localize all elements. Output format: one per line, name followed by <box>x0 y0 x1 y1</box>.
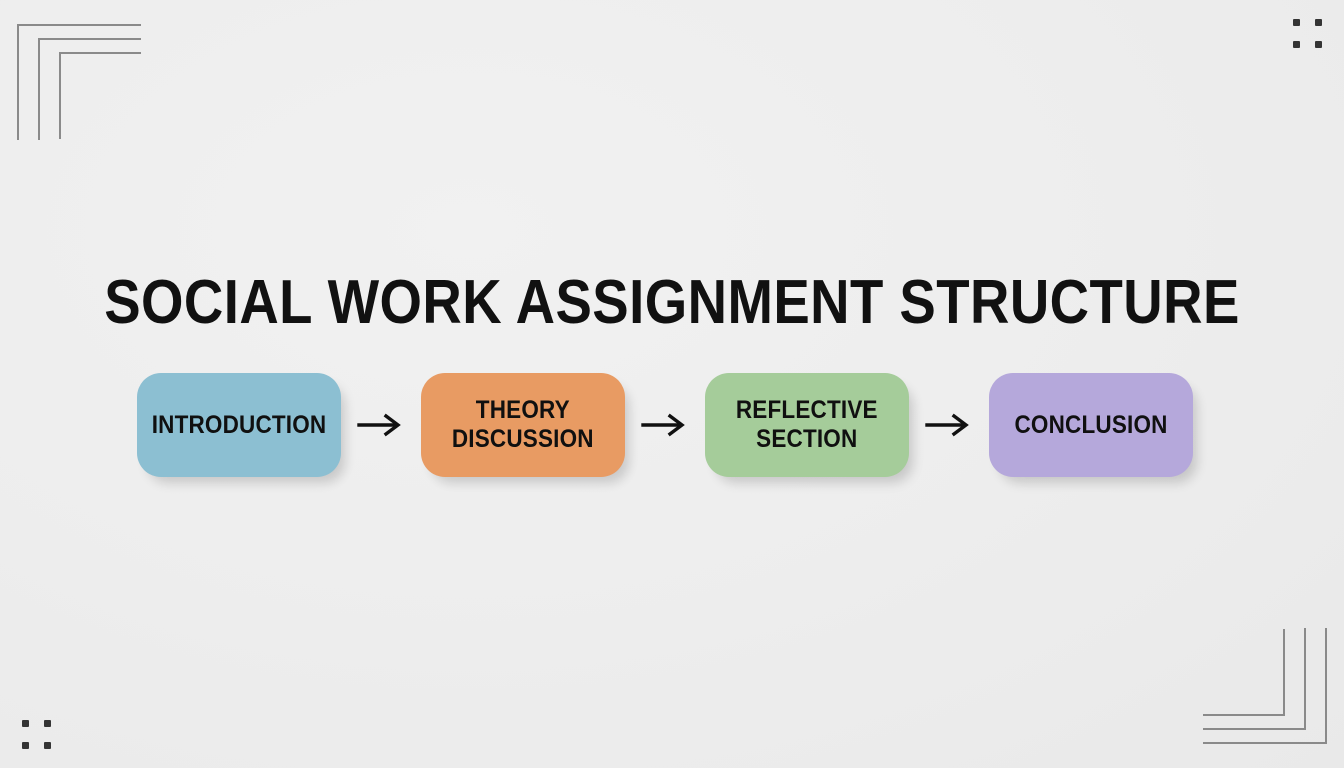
dot-grid-bottom-left-icon <box>22 720 51 749</box>
flow-node-label: THEORY DISCUSSION <box>443 396 603 454</box>
dot <box>1293 19 1300 26</box>
flow-arrow-icon-3 <box>921 408 977 442</box>
dot <box>22 742 29 749</box>
flow-node-reflective-section[interactable]: REFLECTIVE SECTION <box>705 373 909 477</box>
flow-node-theory-discussion[interactable]: THEORY DISCUSSION <box>421 373 625 477</box>
dot <box>1315 41 1322 48</box>
flow-node-label: INTRODUCTION <box>143 411 336 440</box>
bracket-line-inner <box>1203 629 1285 716</box>
dot <box>1315 19 1322 26</box>
process-flow-diagram: INTRODUCTION THEORY DISCUSSION REFLECTIV… <box>137 373 1193 477</box>
slide-canvas: SOCIAL WORK ASSIGNMENT STRUCTURE INTRODU… <box>0 0 1344 768</box>
bracket-line-outer <box>17 24 141 140</box>
dot <box>22 720 29 727</box>
page-title: SOCIAL WORK ASSIGNMENT STRUCTURE <box>81 264 1264 342</box>
bracket-line-middle <box>1203 628 1306 730</box>
flow-node-label: CONCLUSION <box>1005 411 1176 440</box>
flow-node-conclusion[interactable]: CONCLUSION <box>989 373 1193 477</box>
flow-arrow-icon-1 <box>353 408 409 442</box>
flow-arrow-icon-2 <box>637 408 693 442</box>
flow-node-label: REFLECTIVE SECTION <box>727 396 887 454</box>
flow-node-introduction[interactable]: INTRODUCTION <box>137 373 341 477</box>
bracket-line-inner <box>59 52 141 139</box>
bracket-line-outer <box>1203 628 1327 744</box>
dot-grid-top-right-icon <box>1293 19 1322 48</box>
dot <box>44 720 51 727</box>
bracket-line-middle <box>38 38 141 140</box>
dot <box>44 742 51 749</box>
dot <box>1293 41 1300 48</box>
